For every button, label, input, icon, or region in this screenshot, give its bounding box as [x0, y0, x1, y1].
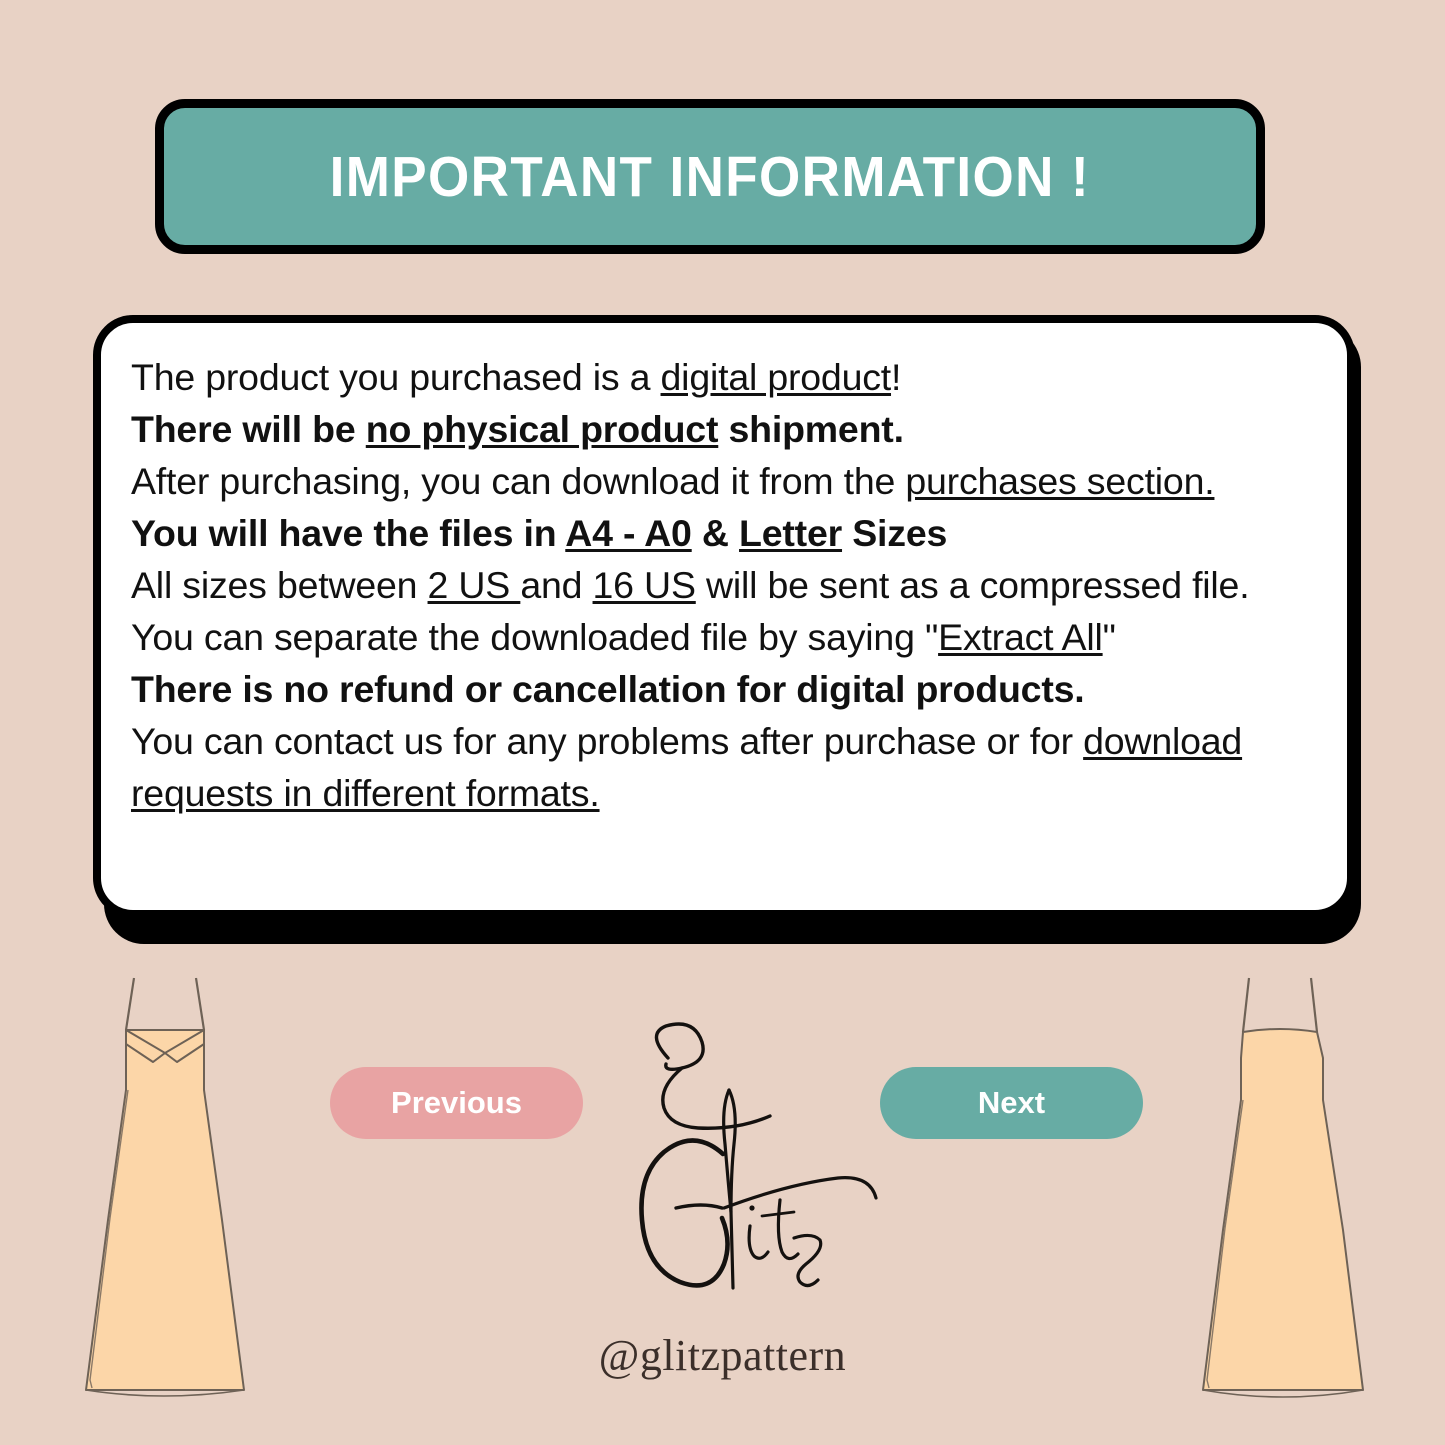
info-line-3: After purchasing, you can download it fr…: [131, 455, 1315, 507]
text-segment: There is no refund or cancellation for d…: [131, 668, 1085, 710]
text-segment: All sizes between: [131, 564, 428, 606]
info-line-6: There is no refund or cancellation for d…: [131, 663, 1315, 715]
text-segment: no physical product: [366, 408, 719, 450]
info-card-text: The product you purchased is a digital p…: [131, 351, 1315, 819]
text-segment: ": [1103, 616, 1116, 658]
important-information-banner: IMPORTANT INFORMATION !: [155, 99, 1265, 254]
text-segment: 16 US: [593, 564, 696, 606]
text-segment: You will have the files in: [131, 512, 565, 554]
text-segment: purchases section.: [905, 460, 1214, 502]
glitz-script-logo: [598, 1012, 888, 1312]
text-segment: Sizes: [842, 512, 947, 554]
previous-button[interactable]: Previous: [330, 1067, 583, 1139]
text-segment: A4 - A0: [565, 512, 691, 554]
text-segment: shipment.: [718, 408, 904, 450]
text-segment: and: [520, 564, 592, 606]
banner-title: IMPORTANT INFORMATION !: [330, 144, 1090, 210]
info-line-7: You can contact us for any problems afte…: [131, 715, 1315, 819]
text-segment: Letter: [739, 512, 842, 554]
text-segment: 2 US: [428, 564, 521, 606]
text-segment: &: [692, 512, 739, 554]
info-line-5: All sizes between 2 US and 16 US will be…: [131, 559, 1315, 663]
text-segment: You can contact us for any problems afte…: [131, 720, 1083, 762]
text-segment: digital product: [661, 356, 891, 398]
text-segment: !: [891, 356, 901, 398]
text-segment: After purchasing, you can download it fr…: [131, 460, 905, 502]
instagram-handle: @glitzpattern: [0, 1330, 1445, 1381]
text-segment: The product you purchased is a: [131, 356, 661, 398]
info-line-2: There will be no physical product shipme…: [131, 403, 1315, 455]
next-button[interactable]: Next: [880, 1067, 1143, 1139]
info-line-1: The product you purchased is a digital p…: [131, 351, 1315, 403]
text-segment: Extract All: [938, 616, 1103, 658]
text-segment: There will be: [131, 408, 366, 450]
info-card: The product you purchased is a digital p…: [93, 315, 1355, 918]
info-line-4: You will have the files in A4 - A0 & Let…: [131, 507, 1315, 559]
